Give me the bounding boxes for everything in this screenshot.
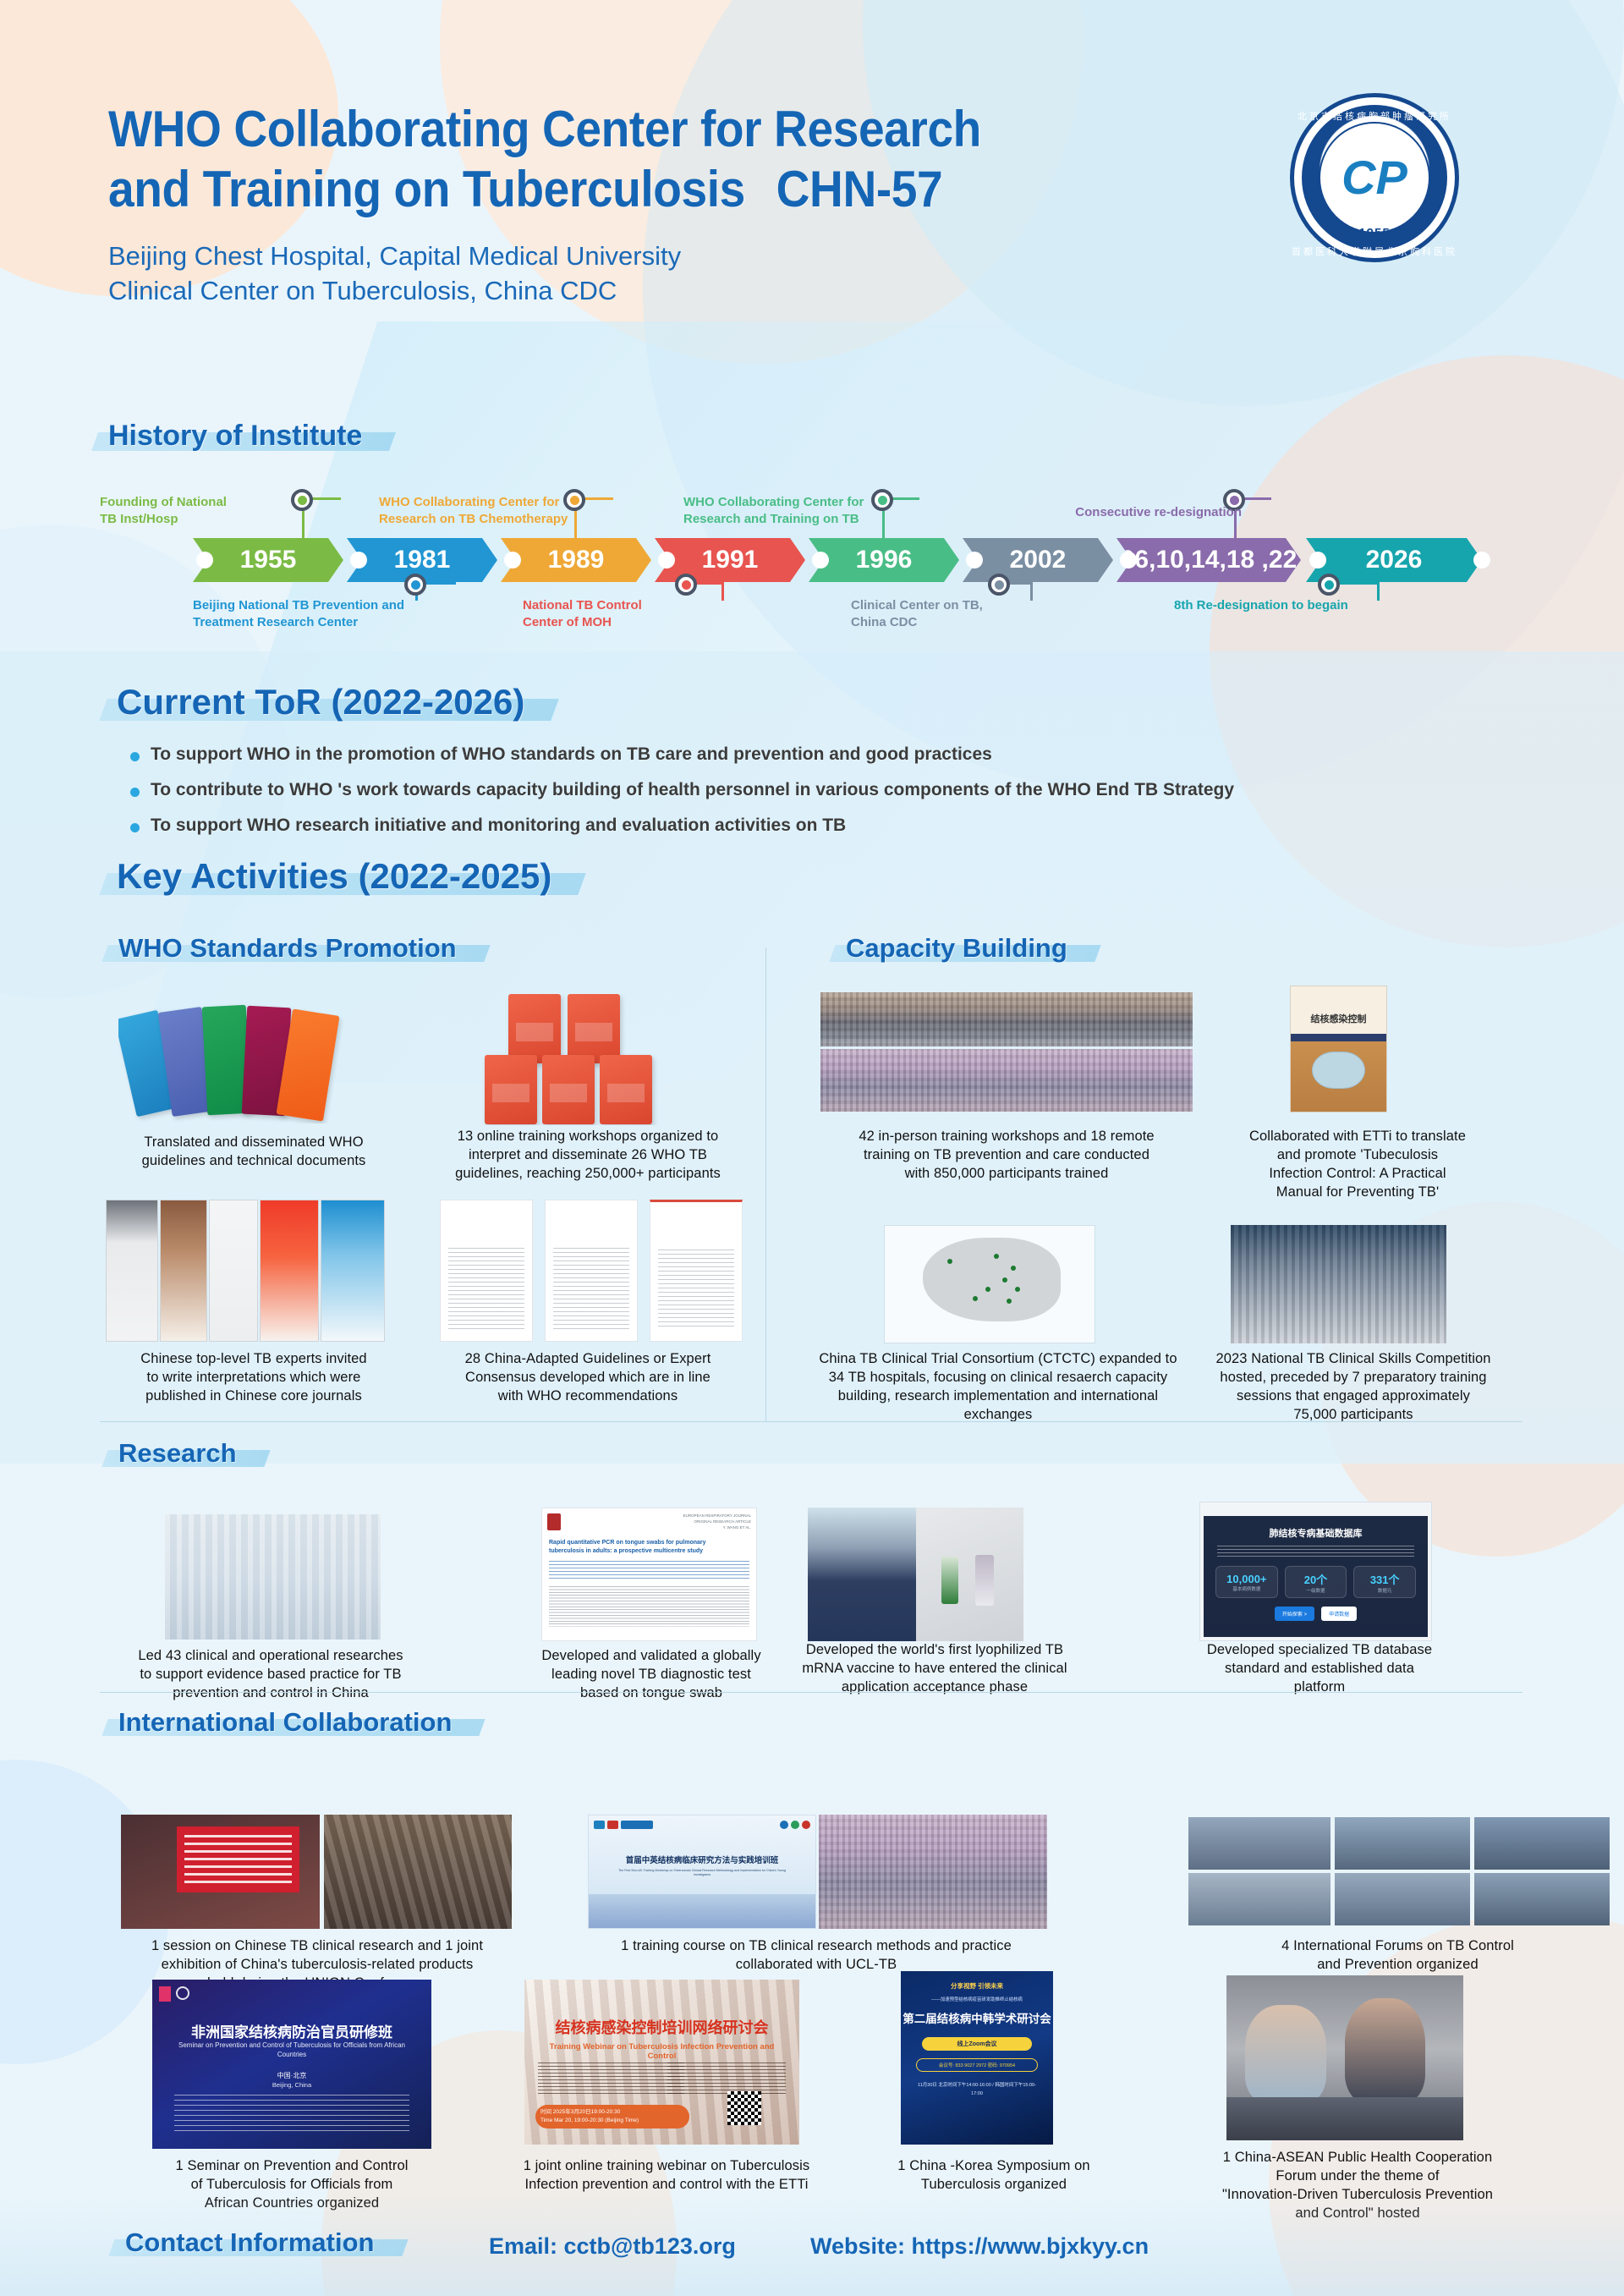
photo-chinese-booklets: [478, 994, 664, 1125]
erj-journal-line: EUROPEAN RESPIRATORY JOURNAL ORIGINAL RE…: [683, 1513, 751, 1530]
caption-chinese-booklets: 13 online training workshops organized t…: [414, 1128, 761, 1184]
caption-etti-webinar: 1 joint online training webinar on Tuber…: [489, 2157, 844, 2194]
db-apply-button[interactable]: 申请数据: [1321, 1607, 1357, 1621]
timeline-chip-1996: 1996: [809, 538, 959, 582]
timeline-chip-1991: 1991: [655, 538, 805, 582]
section-divider-international: [100, 1692, 1522, 1693]
contact-website[interactable]: Website: https://www.bjxkyy.cn: [810, 2233, 1149, 2260]
caption-who-guidelines: Translated and disseminated WHO guidelin…: [93, 1134, 414, 1171]
db-stat-3: 331个 数据元: [1353, 1566, 1416, 1598]
photo-infection-control-manual: 结核感染控制: [1290, 986, 1387, 1112]
photo-guideline-documents: [440, 1200, 744, 1342]
history-timeline: 1955 Founding of National TB Inst/Hosp 1…: [193, 538, 1507, 582]
db-explore-button[interactable]: 开始探索 >: [1275, 1607, 1314, 1621]
photo-chinese-journals: [106, 1200, 385, 1342]
photo-tb-database-platform: 肺结核专病基础数据库 10,000+ 基本病例数据 20个 一级数据 331个 …: [1199, 1502, 1432, 1641]
photo-forum-3: [1474, 1817, 1610, 1870]
section-heading-current-tor: Current ToR (2022-2026): [117, 682, 524, 722]
section-heading-key-activities: Key Activities (2022-2025): [117, 856, 551, 897]
photo-skills-competition: [1231, 1225, 1446, 1343]
timeline-label-redesignations: Consecutive re-designation: [996, 504, 1242, 521]
tor-bullet-list: To support WHO in the promotion of WHO s…: [125, 744, 1521, 851]
photo-ctctc-map: [884, 1225, 1095, 1343]
etti-poster-time-en: Time Mar 20, 19:00-20:30 (Beijing Time): [540, 2117, 684, 2125]
korea-poster-dates: 11月30日 北京时间下午14:00-16:00 / 韩国时间下午15:00-1…: [913, 2082, 1040, 2098]
caption-tb-database: Developed specialized TB database standa…: [1180, 1641, 1459, 1697]
title-line-2: and Training on Tuberculosis: [108, 161, 745, 217]
caption-china-korea-symposium: 1 China -Korea Symposium on Tuberculosis…: [854, 2157, 1133, 2194]
subtitle-line-1: Beijing Chest Hospital, Capital Medical …: [108, 239, 1233, 274]
timeline-chip-2002: 2002: [963, 538, 1113, 582]
photo-ward-round: [165, 1514, 381, 1640]
photo-ucl-group: [819, 1815, 1047, 1929]
caption-mrna-vaccine: Developed the world's first lyophilized …: [765, 1641, 1104, 1697]
photo-forum-5: [1335, 1873, 1470, 1925]
caption-clinical-research: Led 43 clinical and operational research…: [101, 1647, 440, 1703]
db-title: 肺结核专病基础数据库: [1204, 1526, 1428, 1540]
photo-training-workshop-1: [820, 992, 1193, 1046]
photo-etti-webinar-poster: 结核病感染控制培训网络研讨会 Training Webinar on Tuber…: [524, 1980, 799, 2145]
timeline-label-1991: National TB Control Center of MOH: [523, 597, 743, 630]
tor-bullet-3: To support WHO research initiative and m…: [125, 816, 1521, 836]
caption-training-workshops: 42 in-person training workshops and 18 r…: [804, 1128, 1210, 1184]
timeline-label-2026: 8th Re-designation to begain: [1174, 597, 1453, 614]
photo-african-seminar-poster: 非洲国家结核病防治官员研修班 Seminar on Prevention and…: [152, 1980, 431, 2149]
caption-chinese-journals: Chinese top-level TB experts invited to …: [93, 1350, 414, 1406]
korea-poster-meeting: 会议号: 833 9027 2972 密码: 970954: [916, 2058, 1038, 2072]
caption-tongue-swab-test: Developed and validated a globally leadi…: [495, 1647, 808, 1703]
db-stat-1: 10,000+ 基本病例数据: [1215, 1566, 1278, 1598]
african-poster-place-cn: 中国·北京: [152, 2071, 431, 2080]
caption-ucl-training: 1 training course on TB clinical researc…: [579, 1937, 1053, 1975]
photo-forum-6: [1474, 1873, 1610, 1925]
timeline-label-1996: WHO Collaborating Center for Research an…: [683, 494, 937, 527]
column-divider: [765, 948, 766, 1421]
timeline-label-1989: WHO Collaborating Center for Research on…: [379, 494, 633, 527]
section-divider-research: [100, 1421, 1522, 1422]
logo-monogram: CP: [1341, 154, 1407, 201]
timeline-chip-1955: 1955: [193, 538, 343, 582]
tor-bullet-2: To contribute to WHO 's work towards cap…: [125, 780, 1521, 800]
logo-chinese-bottom: 首都医科大学附属北京胸科医院: [1290, 244, 1459, 258]
korea-poster-zoom-line: 线上Zoom会议: [922, 2037, 1032, 2051]
subtitle-line-2: Clinical Center on Tuberculosis, China C…: [108, 273, 1233, 309]
timeline-marker-1981: [404, 574, 426, 596]
page-title: WHO Collaborating Center for Research an…: [108, 100, 1144, 220]
timeline-label-1981: Beijing National TB Prevention and Treat…: [193, 597, 472, 630]
section-heading-history: History of Institute: [108, 420, 362, 453]
african-poster-title-en: Seminar on Prevention and Control of Tub…: [174, 2041, 409, 2059]
african-poster-title-cn: 非洲国家结核病防治官员研修班: [152, 2020, 431, 2041]
institute-logo: 北京市结核病胸部肿瘤研究所 首都医科大学附属北京胸科医院 CP 1955: [1222, 93, 1527, 279]
timeline-marker-1991: [675, 574, 697, 596]
photo-erj-paper: EUROPEAN RESPIRATORY JOURNAL ORIGINAL RE…: [541, 1508, 757, 1641]
photo-forum-2: [1335, 1817, 1470, 1870]
timeline-marker-2002: [988, 574, 1010, 596]
section-heading-international: International Collaboration: [118, 1707, 452, 1738]
center-code: CHN-57: [776, 161, 943, 217]
etti-poster-time-cn: 时间 2025年3月20日19:00-20:30: [540, 2108, 684, 2117]
section-heading-research: Research: [118, 1438, 237, 1469]
logo-chinese-top: 北京市结核病胸部肿瘤研究所: [1290, 109, 1459, 123]
section-heading-capacity-building: Capacity Building: [846, 933, 1067, 964]
timeline-label-1955: Founding of National TB Inst/Hosp: [100, 494, 294, 527]
photo-training-workshop-2: [820, 1049, 1193, 1112]
photo-mrna-vaccine: [808, 1508, 1023, 1641]
korea-poster-sub: 分享视野 引领未来: [901, 1981, 1053, 1991]
section-heading-contact: Contact Information: [125, 2227, 375, 2258]
caption-skills-competition: 2023 National TB Clinical Skills Competi…: [1210, 1350, 1497, 1425]
ucl-poster-title-cn: 首届中英结核病临床研究方法与实践培训班: [589, 1854, 815, 1865]
timeline-chip-redesignations: 06,10,14,18 ,22: [1116, 538, 1301, 582]
photo-forum-1: [1188, 1817, 1330, 1870]
caption-infection-control-manual: Collaborated with ETTi to translate and …: [1218, 1128, 1497, 1202]
photo-china-asean-forum: [1226, 1975, 1463, 2140]
etti-poster-title-cn: 结核病感染控制培训网络研讨会: [524, 2016, 799, 2038]
caption-guideline-documents: 28 China-Adapted Guidelines or Expert Co…: [414, 1350, 761, 1406]
logo-year: 1955: [1290, 226, 1459, 240]
timeline-label-2002: Clinical Center on TB, China CDC: [851, 597, 1071, 630]
african-poster-place-en: Beijing, China: [152, 2081, 431, 2089]
poster-header: WHO Collaborating Center for Research an…: [108, 100, 1233, 309]
etti-poster-title-en: Training Webinar on Tuberculosis Infecti…: [538, 2042, 786, 2061]
timeline-chip-1989: 1989: [501, 538, 651, 582]
caption-international-forums: 4 International Forums on TB Control and…: [1184, 1937, 1611, 1975]
caption-ctctc-map: China TB Clinical Trial Consortium (CTCT…: [782, 1350, 1214, 1425]
photo-ucl-tb-poster: 首届中英结核病临床研究方法与实践培训班 The First Sino-UK Tr…: [588, 1815, 816, 1929]
korea-poster-title-cn: 第二届结核病中韩学术研讨会: [901, 2009, 1053, 2026]
photo-china-korea-poster: 分享视野 引领未来 ——加速预型结核病疫苗研发助推终止结核病 第二届结核病中韩学…: [901, 1971, 1053, 2145]
photo-forum-4: [1188, 1873, 1330, 1925]
photo-union-session: [121, 1815, 320, 1929]
photo-union-exhibition: [324, 1815, 512, 1929]
photo-who-guidelines: [118, 997, 389, 1123]
timeline-marker-2026: [1318, 574, 1340, 596]
title-line-1: WHO Collaborating Center for Research: [108, 101, 981, 157]
erj-paper-title: Rapid quantitative PCR on tongue swabs f…: [549, 1539, 749, 1556]
poster-page: WHO Collaborating Center for Research an…: [0, 0, 1624, 2296]
db-stat-2: 20个 一级数据: [1285, 1566, 1347, 1598]
section-heading-who-standards: WHO Standards Promotion: [118, 933, 457, 964]
contact-email[interactable]: Email: cctb@tb123.org: [489, 2233, 736, 2260]
tor-bullet-1: To support WHO in the promotion of WHO s…: [125, 744, 1521, 765]
ucl-poster-title-en: The First Sino-UK Training Workshop on T…: [616, 1869, 788, 1878]
page-subtitle: Beijing Chest Hospital, Capital Medical …: [108, 239, 1233, 309]
